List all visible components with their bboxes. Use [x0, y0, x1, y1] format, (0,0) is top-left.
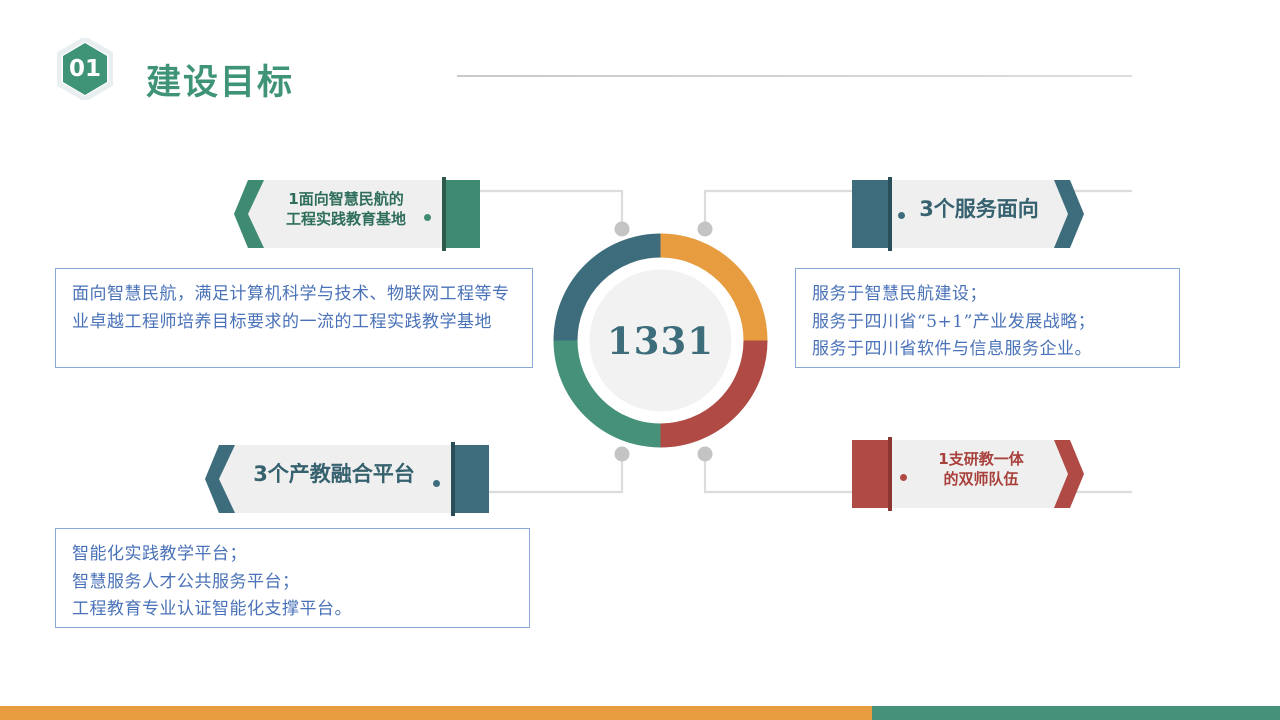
donut-chart: 1331 [548, 228, 773, 453]
description-top-left: 面向智慧民航，满足计算机科学与技术、物联网工程等专业卓越工程师培养目标要求的一流… [55, 268, 533, 368]
label-top-left[interactable]: 1面向智慧民航的 工程实践教育基地 [234, 172, 480, 248]
footer-bar-left [0, 706, 872, 720]
section-number-text: 01 [57, 38, 113, 100]
description-line: 服务于智慧民航建设； [812, 281, 1165, 309]
label-bullet-dot [424, 214, 431, 221]
label-bottom-right[interactable]: 1支研教一体 的双师队伍 [852, 432, 1084, 508]
label-line: 的双师队伍 [943, 470, 1018, 490]
description-line: 智慧服务人才公共服务平台； [72, 569, 515, 597]
label-line: 1面向智慧民航的 [288, 190, 403, 210]
section-number-badge: 01 [57, 38, 113, 100]
footer-bar-right [872, 706, 1280, 720]
donut-center-value: 1331 [548, 228, 773, 453]
header-divider [457, 75, 1132, 77]
description-line: 服务于四川省“5+1”产业发展战略； [812, 309, 1165, 337]
page-title: 建设目标 [146, 54, 294, 105]
label-bullet-dot [898, 212, 905, 219]
description-line: 服务于四川省软件与信息服务企业。 [812, 336, 1165, 364]
label-bottom-left[interactable]: 3个产教融合平台 [205, 437, 489, 513]
label-top-right-text: 3个服务面向 [904, 172, 1054, 248]
description-line: 工程教育专业认证智能化支撑平台。 [72, 596, 515, 624]
label-line: 1支研教一体 [938, 450, 1023, 470]
description-line: 面向智慧民航，满足计算机科学与技术、物联网工程等专业卓越工程师培养目标要求的一流… [72, 281, 518, 336]
description-line: 智能化实践教学平台； [72, 541, 515, 569]
label-line: 3个服务面向 [919, 196, 1039, 224]
label-bottom-right-text: 1支研教一体 的双师队伍 [908, 432, 1054, 508]
label-line: 工程实践教育基地 [286, 210, 406, 230]
label-line: 3个产教融合平台 [253, 461, 415, 489]
label-top-left-text: 1面向智慧民航的 工程实践教育基地 [256, 172, 436, 248]
label-bullet-dot [900, 474, 907, 481]
description-top-right: 服务于智慧民航建设； 服务于四川省“5+1”产业发展战略； 服务于四川省软件与信… [795, 268, 1180, 368]
label-bullet-dot [433, 480, 440, 487]
label-bottom-left-text: 3个产教融合平台 [227, 437, 441, 513]
slide-canvas: 01 建设目标 1331 [0, 0, 1280, 720]
description-bottom-left: 智能化实践教学平台； 智慧服务人才公共服务平台； 工程教育专业认证智能化支撑平台… [55, 528, 530, 628]
label-top-right[interactable]: 3个服务面向 [852, 172, 1084, 248]
